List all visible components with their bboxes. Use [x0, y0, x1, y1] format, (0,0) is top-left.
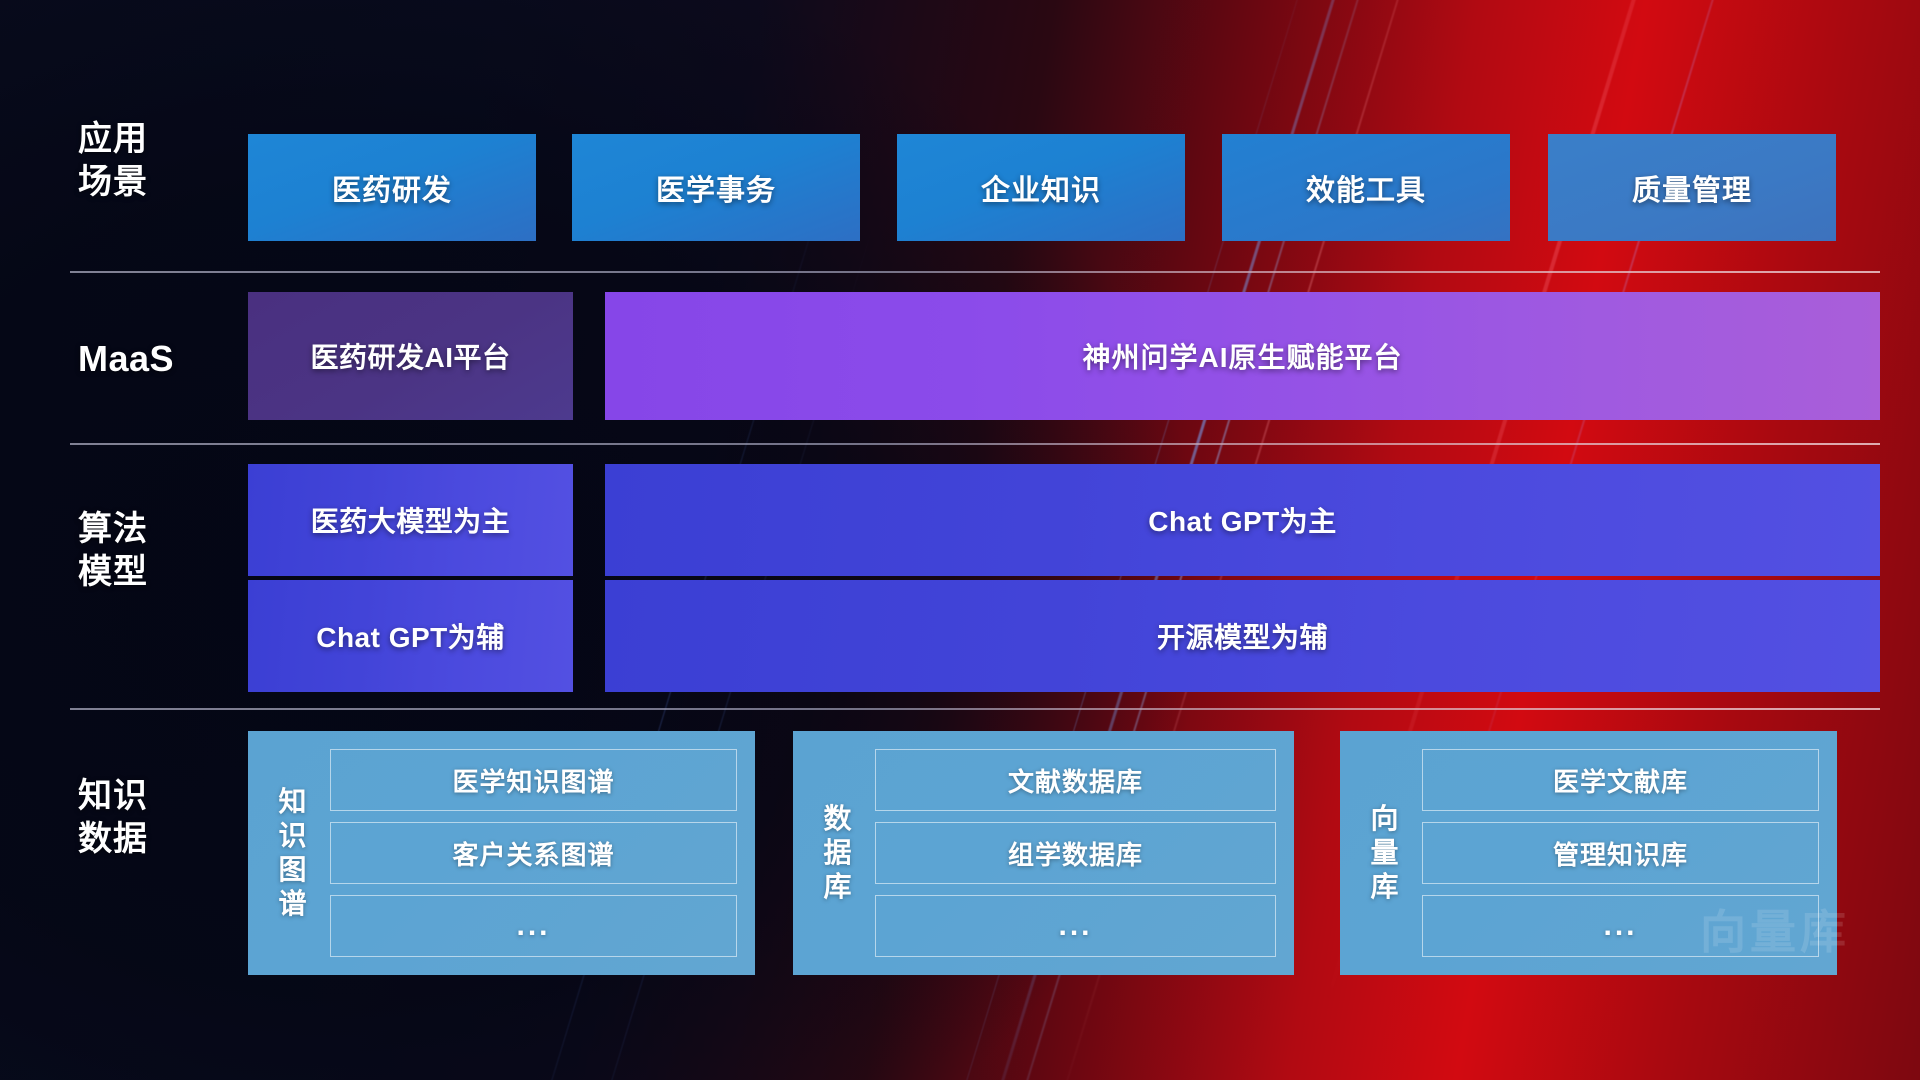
knowledge-group-title-2: 数 据 库 — [807, 802, 869, 904]
knowledge-item[interactable]: 医学文献库 — [1422, 749, 1819, 811]
knowledge-group-2[interactable]: 数 据 库 文献数据库 组学数据库 ... — [793, 731, 1294, 975]
knowledge-group-items-2: 文献数据库 组学数据库 ... — [875, 745, 1276, 961]
app-scenario-box-3[interactable]: 企业知识 — [897, 134, 1185, 241]
app-scenario-box-1[interactable]: 医药研发 — [248, 134, 536, 241]
row-label-algorithm: 算法 模型 — [78, 508, 228, 594]
algorithm-label-right-bottom: 开源模型为辅 — [1157, 616, 1328, 656]
algorithm-box-right-bottom[interactable]: 开源模型为辅 — [605, 580, 1880, 692]
row-label-knowledge: 知识 数据 — [78, 775, 228, 861]
maas-platform-label-left: 医药研发AI平台 — [310, 336, 510, 376]
app-scenario-box-4[interactable]: 效能工具 — [1222, 134, 1510, 241]
knowledge-item[interactable]: 医学知识图谱 — [330, 749, 737, 811]
divider-algorithm-knowledge — [70, 708, 1880, 710]
row-label-application: 应用 场景 — [78, 118, 228, 204]
knowledge-group-3[interactable]: 向 量 库 医学文献库 管理知识库 ... — [1340, 731, 1837, 975]
algorithm-box-left-bottom[interactable]: Chat GPT为辅 — [248, 580, 573, 692]
divider-application-maas — [70, 271, 1880, 273]
maas-platform-box-left[interactable]: 医药研发AI平台 — [248, 292, 573, 420]
app-scenario-label-4: 效能工具 — [1306, 167, 1426, 209]
knowledge-item[interactable]: 客户关系图谱 — [330, 822, 737, 884]
knowledge-item-more[interactable]: ... — [875, 895, 1276, 957]
knowledge-group-items-3: 医学文献库 管理知识库 ... — [1422, 745, 1819, 961]
app-scenario-box-2[interactable]: 医学事务 — [572, 134, 860, 241]
algorithm-label-left-bottom: Chat GPT为辅 — [316, 616, 505, 656]
knowledge-item[interactable]: 文献数据库 — [875, 749, 1276, 811]
maas-platform-box-right[interactable]: 神州问学AI原生赋能平台 — [605, 292, 1880, 420]
knowledge-item[interactable]: 管理知识库 — [1422, 822, 1819, 884]
app-scenario-box-5[interactable]: 质量管理 — [1548, 134, 1836, 241]
app-scenario-label-2: 医学事务 — [656, 167, 776, 209]
algorithm-box-left-top[interactable]: 医药大模型为主 — [248, 464, 573, 576]
app-scenario-label-1: 医药研发 — [332, 167, 452, 209]
knowledge-group-items-1: 医学知识图谱 客户关系图谱 ... — [330, 745, 737, 961]
divider-maas-algorithm — [70, 443, 1880, 445]
algorithm-label-left-top: 医药大模型为主 — [311, 500, 511, 540]
knowledge-item-more[interactable]: ... — [1422, 895, 1819, 957]
knowledge-group-title-1: 知 识 图 谱 — [262, 785, 324, 921]
knowledge-group-title-3: 向 量 库 — [1354, 802, 1416, 904]
knowledge-item[interactable]: 组学数据库 — [875, 822, 1276, 884]
row-label-maas: MaaS — [78, 337, 228, 380]
diagram-canvas: 应用 场景 医药研发 医学事务 企业知识 效能工具 质量管理 MaaS 医药研发… — [0, 0, 1920, 1080]
algorithm-box-right-top[interactable]: Chat GPT为主 — [605, 464, 1880, 576]
app-scenario-label-3: 企业知识 — [981, 167, 1101, 209]
algorithm-label-right-top: Chat GPT为主 — [1148, 500, 1337, 540]
maas-platform-label-right: 神州问学AI原生赋能平台 — [1082, 336, 1402, 376]
knowledge-group-1[interactable]: 知 识 图 谱 医学知识图谱 客户关系图谱 ... — [248, 731, 755, 975]
knowledge-item-more[interactable]: ... — [330, 895, 737, 957]
app-scenario-label-5: 质量管理 — [1632, 167, 1752, 209]
